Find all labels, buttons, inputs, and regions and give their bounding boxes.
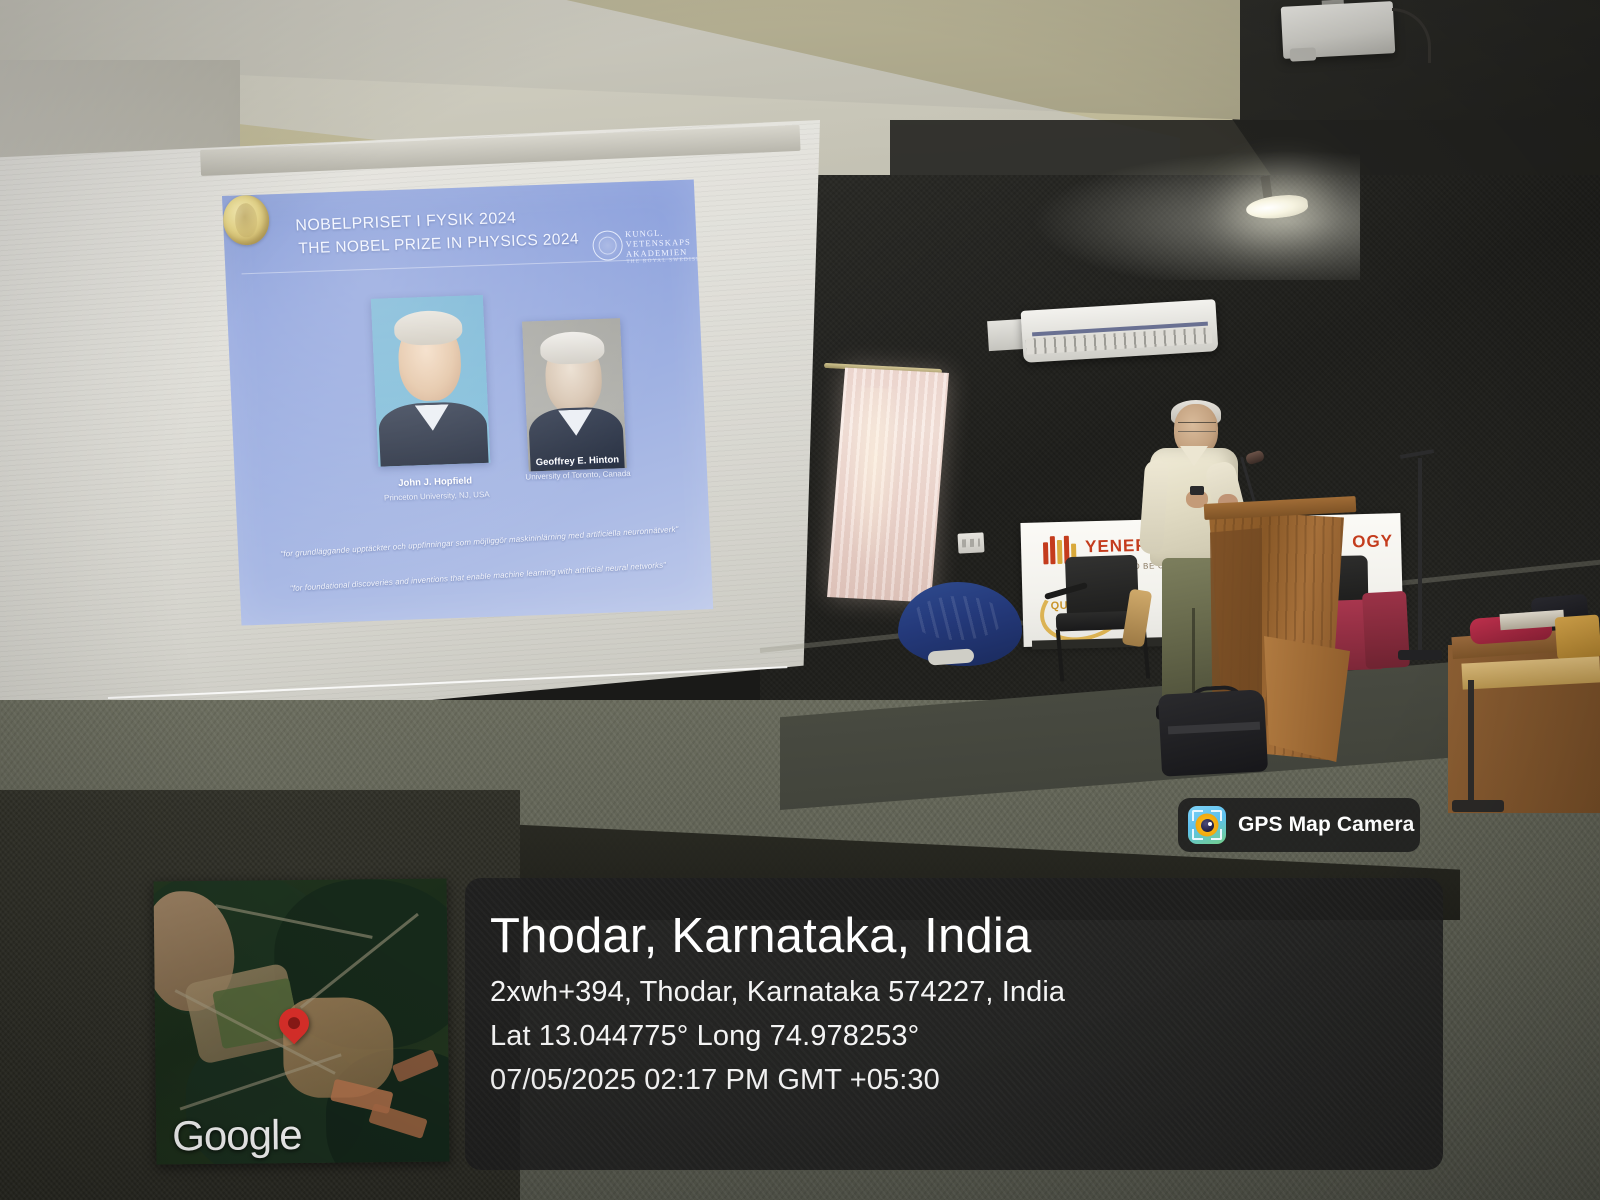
laureate-portrait-hopfield [371,295,491,467]
location-place-name: Thodar, Karnataka, India [490,908,1031,964]
presenter-clicker [1190,486,1204,495]
podium-side-facet [1264,636,1350,762]
location-address: 2xwh+394, Thodar, Karnataka 574227, Indi… [490,976,1065,1009]
laureate-name: John J. Hopfield [379,475,491,490]
camera-lens-icon [1196,814,1219,837]
laureate-affiliation: Princeton University, NJ, USA [342,488,532,504]
bean-bag-folds [912,596,1004,640]
wall-switch-plate[interactable] [957,532,984,553]
speaker-glasses-icon [1178,422,1216,432]
nobel-medal-icon [222,194,270,246]
citation-swedish: "for grundläggande upptäckter och uppfin… [280,525,679,559]
google-logo: Google [172,1111,302,1160]
gps-map-camera-badge: GPS Map Camera [1178,798,1420,852]
gps-map-camera-app-icon [1188,806,1226,844]
nobel-prize-slide: NOBELPRISET I FYSIK 2024 THE NOBEL PRIZE… [222,180,713,626]
citation-english: "for foundational discoveries and invent… [290,560,667,593]
portrait-hair [540,331,605,365]
window-light-glow [841,387,904,570]
camera-lens-glint [1208,822,1212,826]
location-pin-hole [286,1015,303,1032]
academy-seal-icon [592,230,623,261]
academy-logo: KUNGL. VETENSKAPS AKADEMIEN THE ROYAL SW… [592,225,704,273]
slide-title-english: THE NOBEL PRIZE IN PHYSICS 2024 [298,231,579,259]
map-thumbnail[interactable]: Google [154,878,450,1164]
microphone-stand-base [1398,650,1442,660]
laureate-affiliation: University of Toronto, Canada [503,468,653,482]
gps-map-camera-label: GPS Map Camera [1238,813,1414,837]
front-table-foot [1452,800,1504,812]
location-coordinates: Lat 13.044775° Long 74.978253° [490,1020,919,1053]
microphone-stand [1418,458,1422,658]
photo-canvas: NOBELPRISET I FYSIK 2024 THE NOBEL PRIZE… [0,0,1600,1200]
spot-light-glow [1030,150,1360,280]
nobel-medal-portrait [234,203,258,238]
camera-lens-inner [1201,819,1214,832]
table-item-orange-folder [1555,615,1600,660]
slide-title-swedish: NOBELPRISET I FYSIK 2024 [295,210,517,236]
front-table-legs [1468,680,1600,808]
portrait-hair [393,310,463,346]
projector-lens [1290,47,1317,61]
banner-right-word: OGY [1352,531,1393,552]
laureate-portrait-hinton [522,318,627,471]
location-timestamp: 07/05/2025 02:17 PM GMT +05:30 [490,1064,940,1097]
